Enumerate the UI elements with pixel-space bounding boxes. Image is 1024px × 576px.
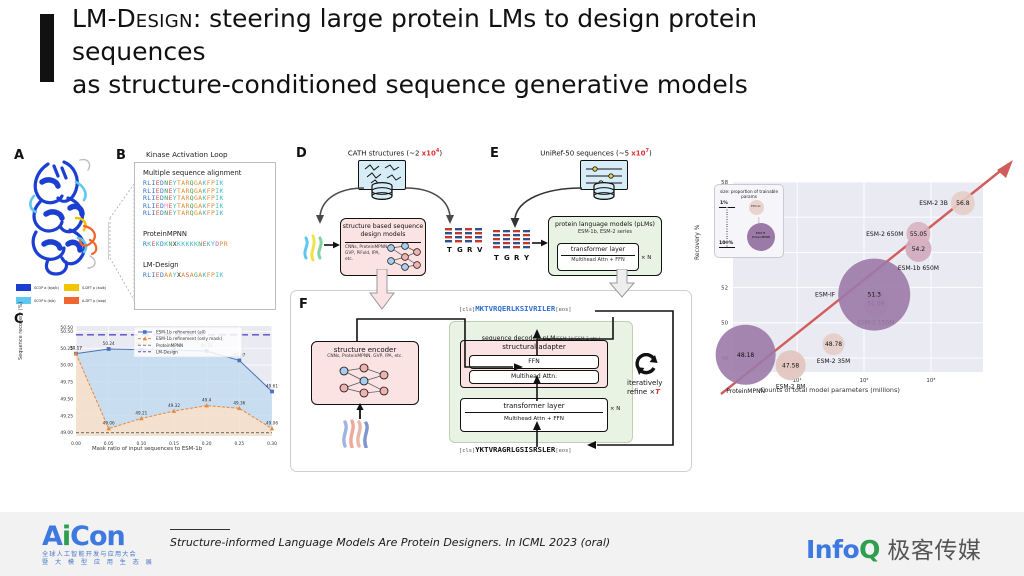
structure-design-model-title: structure based sequence design models: [341, 223, 425, 239]
eos-token: [eos]: [555, 448, 571, 454]
panel-a-legend: SCOP a (b/a/b) SCOP b (b/b) S-DFT p (bul…: [16, 282, 112, 308]
panel-d-caption-text: CATH structures (~2: [348, 149, 422, 157]
transformer-layer-title: transformer layer: [558, 246, 638, 254]
scatter-bubble-label: ESM-1b 650M: [898, 265, 939, 272]
panel-e-caption-text: UniRef-50 sequences (~5: [540, 149, 631, 157]
panel-c-marker: [107, 347, 111, 351]
scatter-legend-small-label: ESM-2s: [751, 205, 760, 208]
legend-item: S-DFT p (bulk): [64, 282, 112, 293]
panel-c-xtick: 0.00: [71, 441, 81, 447]
protein-structure-icon: [339, 418, 375, 448]
refresh-cycle-icon: [635, 353, 659, 377]
input-sequence: [cls]YKTVRAGRLGSISRSLER[eos]: [459, 445, 572, 454]
aicon-wordmark: AiCon: [42, 523, 162, 551]
scatter-bubble-value: 55.05: [910, 231, 927, 238]
panel-c-xtick: 0.25: [234, 441, 244, 447]
title-line-2: sequences: [72, 35, 972, 68]
scatter-bubble-value: 54.2: [912, 246, 926, 253]
panel-e-caption-exp: x10: [631, 149, 645, 157]
protein-ribbon-svg: [18, 152, 110, 280]
legend-item: SCOP a (b/a/b): [16, 282, 64, 293]
panel-e: E UniRef-50 sequences (~5 x107): [490, 146, 686, 292]
output-sequence: [cls]MKTVRQERLKSIVRILER[eos]: [459, 304, 572, 313]
panel-c-xtick: 0.30: [267, 441, 277, 447]
refine-loop-arrow-icon: [577, 305, 683, 451]
page-title: LM-Design: steering large protein LMs to…: [72, 2, 972, 101]
scatter-legend-scale-icon: [726, 207, 728, 247]
panel-c-ytick: 49.50: [60, 396, 73, 402]
panel-c-legend-label: ESM-1b refinement (only mask): [156, 336, 223, 341]
panel-c-ytick: 49.25: [60, 413, 73, 419]
svg-text:R: R: [514, 254, 520, 262]
msa-header: Multiple sequence alignment: [143, 169, 275, 177]
input-to-transformer-arrow-icon: [531, 421, 543, 447]
panel-c-point-label: 49.36: [233, 400, 245, 405]
scatter-legend-ellipsis: ⋮: [756, 217, 762, 224]
panel-c-point-label: 49.06: [103, 421, 115, 426]
panel-a: A: [14, 148, 114, 313]
panel-c-ytick: 50.50: [60, 325, 73, 331]
panel-c-legend-label: ProteinMPNN: [156, 343, 183, 348]
refine-label: iteratively refine ×T: [627, 379, 662, 397]
legend-swatch-icon: [16, 284, 31, 291]
panel-f-letter: F: [299, 297, 308, 312]
msa-row: RLIEDNEYTARQGAKFPIK: [143, 210, 275, 218]
panel-c-svg: 0.000.050.100.150.200.250.3049.0049.2549…: [50, 318, 278, 458]
sequence-blocks-icon: T G R V: [444, 226, 484, 260]
svg-text:G: G: [457, 246, 463, 254]
legend-swatch-icon: [64, 297, 79, 304]
transformer-layer-box: transformer layer Multihead Attn + FFN: [557, 243, 639, 271]
scatter-bubble-value: 48.18: [737, 352, 754, 359]
panel-c-marker: [270, 390, 274, 394]
panel-c-ylabel: Sequence recovery (%): [18, 302, 24, 360]
panel-e-caption: UniRef-50 sequences (~5 x107): [512, 148, 680, 157]
footer-divider: [170, 529, 230, 530]
panel-c-ytick: 49.00: [60, 430, 73, 436]
protein-structure-image: [18, 152, 110, 280]
panel-c-point-label: 49.32: [168, 403, 180, 408]
scatter-bubble-value: 48.78: [825, 341, 842, 348]
transformer-layer-sub: Multihead Attn + FFN: [558, 257, 638, 263]
scatter-xtick: 10²: [860, 377, 869, 384]
scatter-xtick: 10³: [926, 377, 935, 384]
panel-d-letter: D: [296, 146, 307, 161]
svg-text:V: V: [477, 246, 483, 254]
panel-b: B Kinase Activation Loop Multiple sequen…: [116, 148, 276, 308]
arrow-right-icon: [532, 238, 548, 248]
panel-c-legend-label: ESM-1b refinement (all): [156, 330, 206, 335]
encoder-to-adapter-arrow-icon: [355, 313, 525, 383]
infoq-logo: InfoQ极客传媒: [806, 531, 981, 565]
panel-c: C 0.000.050.100.150.200.250.3049.0049.25…: [14, 308, 282, 458]
lmdesign-header: LM-Design: [143, 261, 275, 269]
panel-c-point-label: 49.4: [202, 398, 212, 403]
scatter-bubble-label: ESM-2 3B: [919, 200, 948, 207]
structure-design-model-box: structure based sequence design models C…: [340, 218, 426, 276]
title-lmdesign-suffix: esign: [136, 4, 193, 33]
footer-citation: Structure-informed Language Models Are P…: [170, 536, 610, 549]
legend-label: SCOP b (b/b): [34, 299, 56, 303]
panel-c-xlabel: Mask ratio of input sequences to ESM-1b: [92, 446, 202, 452]
neural-network-icon: [385, 241, 423, 271]
svg-text:T: T: [494, 254, 499, 262]
scatter-bubble-label: ESM-2 650M: [866, 231, 903, 238]
legend-label: A-DFT p (loop): [82, 299, 106, 303]
title-accent-bar: [40, 14, 54, 82]
plm-box-sub: ESM-1b, ESM-2 series: [549, 229, 661, 235]
aicon-logo: AiCon 全球人工智能开发与应用大会 暨 大 模 型 应 用 生 态 展: [42, 523, 162, 567]
arrow-right-icon: [324, 240, 340, 250]
panel-c-point-label: 49.06: [266, 421, 278, 426]
panel-b-letter: B: [116, 148, 126, 163]
legend-item: A-DFT p (loop): [64, 295, 112, 306]
protein-language-model-box: protein language models (pLMs) ESM-1b, E…: [548, 216, 662, 276]
refine-line-1: iteratively: [627, 379, 662, 388]
sequence-recovery-line-chart: 0.000.050.100.150.200.250.3049.0049.2549…: [50, 318, 278, 458]
scatter-bubble-value: 56.8: [956, 200, 970, 207]
panel-g: 10¹10²10³48505254565848.18ProteinMPNN47.…: [700, 174, 1020, 424]
slide-root: LM-Design: steering large protein LMs to…: [0, 0, 1024, 576]
transformer-to-adapter-arrow-icon: [531, 375, 543, 401]
scatter-size-legend: size: proportion of trainable params1%10…: [714, 184, 784, 258]
title-lmdesign-prefix: LM-D: [72, 4, 136, 33]
plm-box-title: protein language models (pLMs): [549, 221, 661, 229]
panel-b-box: Multiple sequence alignment RLIEDNEYTARQ…: [134, 162, 276, 310]
sequence-blocks-icon: T G R Y: [492, 228, 532, 270]
aicon-subtitle-2: 暨 大 模 型 应 用 生 态 展: [42, 559, 162, 567]
scatter-ytick: 50: [721, 321, 728, 327]
aicon-subtitle-1: 全球人工智能开发与应用大会: [42, 551, 162, 559]
scatter-bubble-value: 51.3: [868, 292, 882, 299]
panel-c-point-label: 49.61: [266, 383, 278, 388]
title-line-3: as structure-conditioned sequence genera…: [72, 68, 972, 101]
cls-token: [cls]: [459, 448, 475, 454]
scatter-ylabel: Recovery %: [694, 225, 701, 260]
svg-text:Y: Y: [523, 254, 530, 262]
scatter-legend-title: size: proportion of trainable params: [715, 189, 783, 200]
panel-b-title: Kinase Activation Loop: [146, 150, 228, 159]
divider: [561, 255, 635, 256]
times-n-label: × N: [641, 255, 651, 261]
panel-c-point-label: 50.24: [103, 341, 115, 346]
panel-f: F [cls]MKTVRQERLKSIVRILER[eos] structure…: [290, 290, 692, 472]
title-line-1-rest: : steering large protein LMs to design p…: [193, 4, 757, 33]
mpnn-sequence: RKEKDKNXKKKKKNEKYDPR: [143, 241, 275, 249]
panel-d-caption-tail: ): [439, 149, 442, 157]
panel-d-caption: CATH structures (~2 x104): [320, 148, 470, 157]
lmdesign-sequence: RLIEDAAYXASAGAKFPIK: [143, 272, 275, 280]
svg-text:R: R: [467, 246, 473, 254]
scatter-bubble-label: ESM-2 35M: [817, 358, 850, 365]
arrow-up-icon: [355, 403, 365, 419]
panel-c-legend-label: LM-Design: [156, 349, 178, 354]
scatter-bubble-value: 47.58: [782, 362, 799, 369]
arrow-down-block-icon: [369, 269, 395, 313]
scatter-bubble-label: ESM-IF: [815, 292, 836, 299]
database-cylinder-icon: [370, 182, 394, 202]
structure-design-model-sub: CNNs, ProteinMPNN, GVP, PiFold, IPA, etc…: [345, 245, 389, 263]
legend-label: SCOP a (b/a/b): [34, 286, 59, 290]
infoq-q-mark: Q: [859, 535, 880, 564]
panel-c-ytick: 50.00: [60, 363, 73, 369]
refine-t-value: T: [655, 388, 660, 396]
panel-c-ytick: 49.75: [60, 380, 73, 386]
legend-label: S-DFT p (bulk): [82, 286, 106, 290]
panel-e-caption-tail: ): [649, 149, 652, 157]
database-cylinder-icon: [592, 182, 616, 202]
panel-c-xtick: 0.20: [202, 441, 212, 447]
panel-c-marker: [237, 359, 241, 363]
svg-text:T: T: [447, 246, 452, 254]
panel-c-point-label: 49.21: [135, 410, 147, 415]
infoq-wordmark: Info: [806, 535, 859, 564]
infoq-chinese-name: 极客传媒: [887, 531, 981, 565]
legend-swatch-icon: [64, 284, 79, 291]
scatter-trend-arrowhead: [997, 160, 1013, 178]
scatter-legend-min: 1%: [720, 201, 728, 206]
scatter-legend-large-label: ESM-IF,ProteinMPNN: [750, 232, 772, 239]
scatter-legend-max-rule: [719, 247, 735, 248]
input-sequence-body: YKTVRAGRLGSISRSLER: [475, 445, 555, 454]
mpnn-header: ProteinMPNN: [143, 230, 275, 238]
protein-helix-icon: [300, 224, 326, 264]
arrow-down-block-icon: [609, 269, 635, 299]
refine-line-2: refine ×T: [627, 388, 662, 397]
panel-e-letter: E: [490, 146, 499, 161]
title-line-1: LM-Design: steering large protein LMs to…: [72, 2, 972, 35]
output-sequence-body: MKTVRQERLKSIVRILER: [475, 304, 555, 313]
panel-c-point-label: 50.17: [70, 346, 82, 351]
scatter-ytick: 52: [721, 286, 728, 292]
svg-text:G: G: [504, 254, 510, 262]
panel-d-caption-exp: x10: [422, 149, 436, 157]
figure-container: A: [0, 140, 1024, 495]
scatter-xlabel: Counts of total model parameters (millio…: [760, 386, 900, 394]
